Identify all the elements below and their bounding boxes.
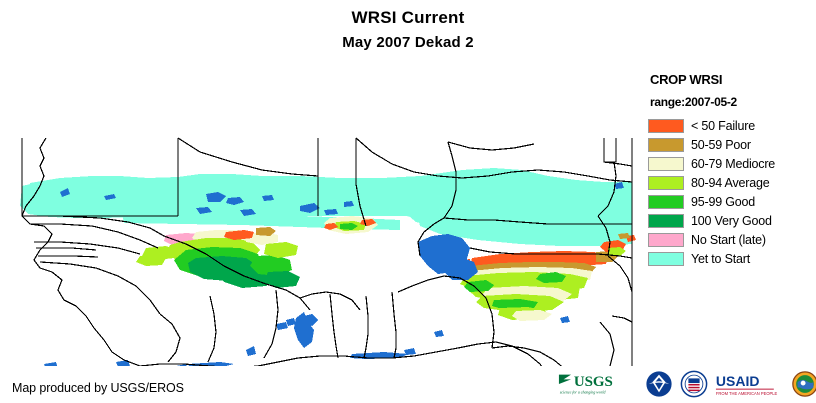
- map-graphic[interactable]: [0, 66, 636, 366]
- legend-label-no-start: No Start (late): [691, 233, 766, 247]
- legend-item-yet-to-start[interactable]: Yet to Start: [648, 249, 816, 268]
- legend-label-average: 80-94 Average: [691, 176, 770, 190]
- usaid-seal-icon: [680, 370, 708, 398]
- legend-item-average[interactable]: 80-94 Average: [648, 173, 816, 192]
- legend-swatch-failure: [648, 119, 684, 133]
- legend-swatch-yet-to-start: [648, 252, 684, 266]
- agency-logos: USGS science for a changing world USAID …: [558, 369, 810, 399]
- usaid-logo: USAID FROM THE AMERICAN PEOPLE: [715, 370, 784, 398]
- legend-label-very-good: 100 Very Good: [691, 214, 772, 228]
- legend-heading: CROP WRSI: [650, 72, 816, 87]
- page-title: WRSI Current: [0, 8, 816, 28]
- legend-item-good[interactable]: 95-99 Good: [648, 192, 816, 211]
- legend-item-no-start[interactable]: No Start (late): [648, 230, 816, 249]
- legend-swatch-average: [648, 176, 684, 190]
- legend-range: range:2007-05-2: [650, 95, 816, 109]
- page-subtitle: May 2007 Dekad 2: [0, 34, 816, 51]
- svg-text:USAID: USAID: [716, 373, 760, 389]
- fewsnet-globe-icon: [791, 370, 816, 398]
- svg-text:science for a changing world: science for a changing world: [560, 390, 606, 394]
- legend-item-failure[interactable]: < 50 Failure: [648, 116, 816, 135]
- legend-label-poor: 50-59 Poor: [691, 138, 751, 152]
- legend-swatch-very-good: [648, 214, 684, 228]
- map-credit: Map produced by USGS/EROS: [12, 381, 184, 395]
- legend-item-mediocre[interactable]: 60-79 Mediocre: [648, 154, 816, 173]
- svg-text:USGS: USGS: [574, 374, 613, 390]
- svg-text:FROM THE AMERICAN PEOPLE: FROM THE AMERICAN PEOPLE: [716, 391, 778, 396]
- noaa-logo: [645, 370, 673, 398]
- legend-swatch-no-start: [648, 233, 684, 247]
- legend-label-mediocre: 60-79 Mediocre: [691, 157, 775, 171]
- legend-item-poor[interactable]: 50-59 Poor: [648, 135, 816, 154]
- usgs-logo: USGS science for a changing world: [558, 370, 638, 398]
- map-legend: CROP WRSI range:2007-05-2 < 50 Failure 5…: [648, 72, 816, 268]
- legend-label-failure: < 50 Failure: [691, 119, 755, 133]
- legend-label-yet-to-start: Yet to Start: [691, 252, 750, 266]
- legend-swatch-poor: [648, 138, 684, 152]
- legend-swatch-good: [648, 195, 684, 209]
- map-panel[interactable]: [0, 66, 636, 366]
- legend-item-very-good[interactable]: 100 Very Good: [648, 211, 816, 230]
- legend-swatch-mediocre: [648, 157, 684, 171]
- legend-label-good: 95-99 Good: [691, 195, 755, 209]
